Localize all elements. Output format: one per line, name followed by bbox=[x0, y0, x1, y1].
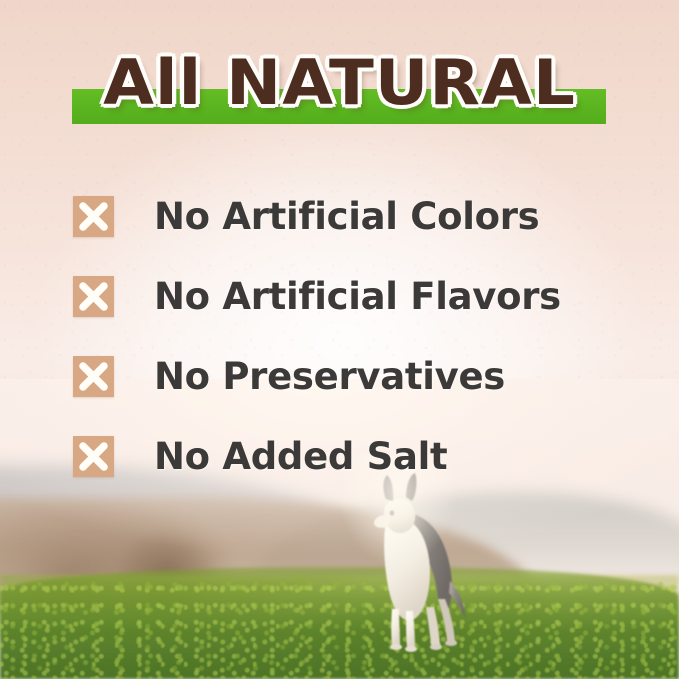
list-item: No Artificial Colors bbox=[73, 176, 613, 256]
list-item: No Preservatives bbox=[73, 336, 613, 416]
list-item: No Added Salt bbox=[73, 416, 613, 496]
product-feature-poster: All NATURAL No Artificial Colors bbox=[0, 0, 679, 679]
grass-blade-texture bbox=[0, 575, 679, 679]
x-mark-icon bbox=[73, 356, 114, 397]
claim-label: No Added Salt bbox=[154, 435, 447, 478]
claims-list: No Artificial Colors No Artificial Flavo… bbox=[73, 176, 613, 496]
dog-photo-subject bbox=[352, 469, 468, 655]
page-title: All NATURAL bbox=[0, 50, 679, 116]
claim-label: No Artificial Colors bbox=[154, 195, 539, 238]
x-mark-icon bbox=[73, 196, 114, 237]
claim-label: No Artificial Flavors bbox=[154, 275, 561, 318]
claim-label: No Preservatives bbox=[154, 355, 505, 398]
list-item: No Artificial Flavors bbox=[73, 256, 613, 336]
x-mark-icon bbox=[73, 436, 114, 477]
x-mark-icon bbox=[73, 276, 114, 317]
